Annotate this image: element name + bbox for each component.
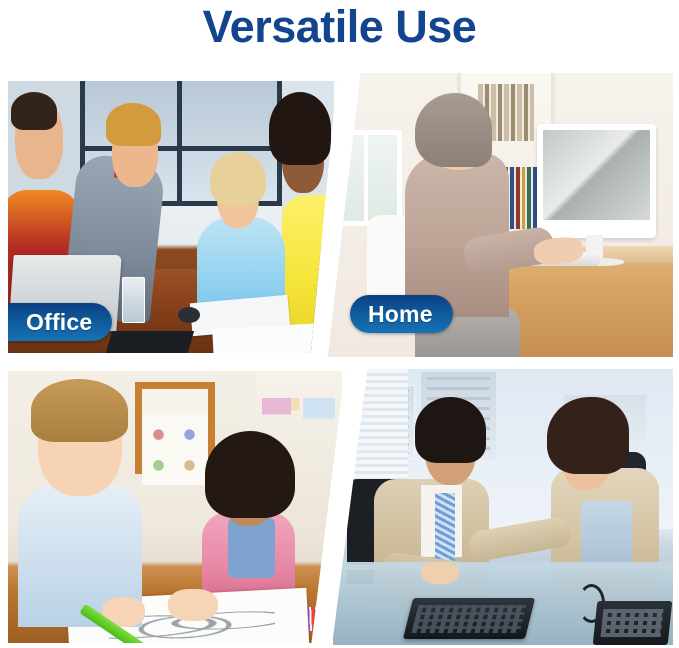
office-person-3-hair (210, 152, 265, 206)
home-monitor (537, 124, 655, 238)
home-monitor-screen (543, 130, 650, 220)
office-person-4-hair (269, 92, 331, 165)
business-keyboard (403, 598, 536, 639)
school-wall-cards (142, 415, 209, 486)
panel-grid: Office (0, 70, 679, 648)
office-person-1-hair (11, 92, 57, 130)
business-photo (333, 369, 673, 645)
versatile-use-infographic: Versatile Use (0, 0, 679, 648)
business-man-hand (421, 562, 458, 584)
badge-office[interactable]: Office (8, 303, 112, 341)
business-man-tie (435, 493, 455, 565)
business-woman-top (581, 501, 632, 567)
panel-office[interactable]: Office (5, 78, 337, 356)
page-title: Versatile Use (0, 2, 679, 52)
school-girl-hair (205, 431, 295, 518)
home-person-hair (415, 93, 492, 167)
school-photo (8, 371, 342, 643)
home-window (328, 130, 401, 227)
office-paper-2 (213, 323, 325, 353)
business-desk-phone (592, 601, 671, 645)
panel-business[interactable]: Business (330, 366, 676, 648)
school-boy-hair (31, 379, 128, 442)
panel-school[interactable]: School (5, 368, 345, 646)
panel-home[interactable]: Home (322, 70, 676, 360)
school-girl-overalls (228, 518, 275, 578)
office-person-2-hair (106, 103, 161, 147)
office-person-4-body (282, 195, 334, 342)
business-woman-hair (547, 397, 629, 474)
badge-home[interactable]: Home (350, 295, 453, 333)
office-keyboard (106, 331, 194, 353)
office-water-glass (122, 277, 145, 323)
school-boy-hand-right (168, 589, 218, 622)
business-man-hair (415, 397, 486, 463)
